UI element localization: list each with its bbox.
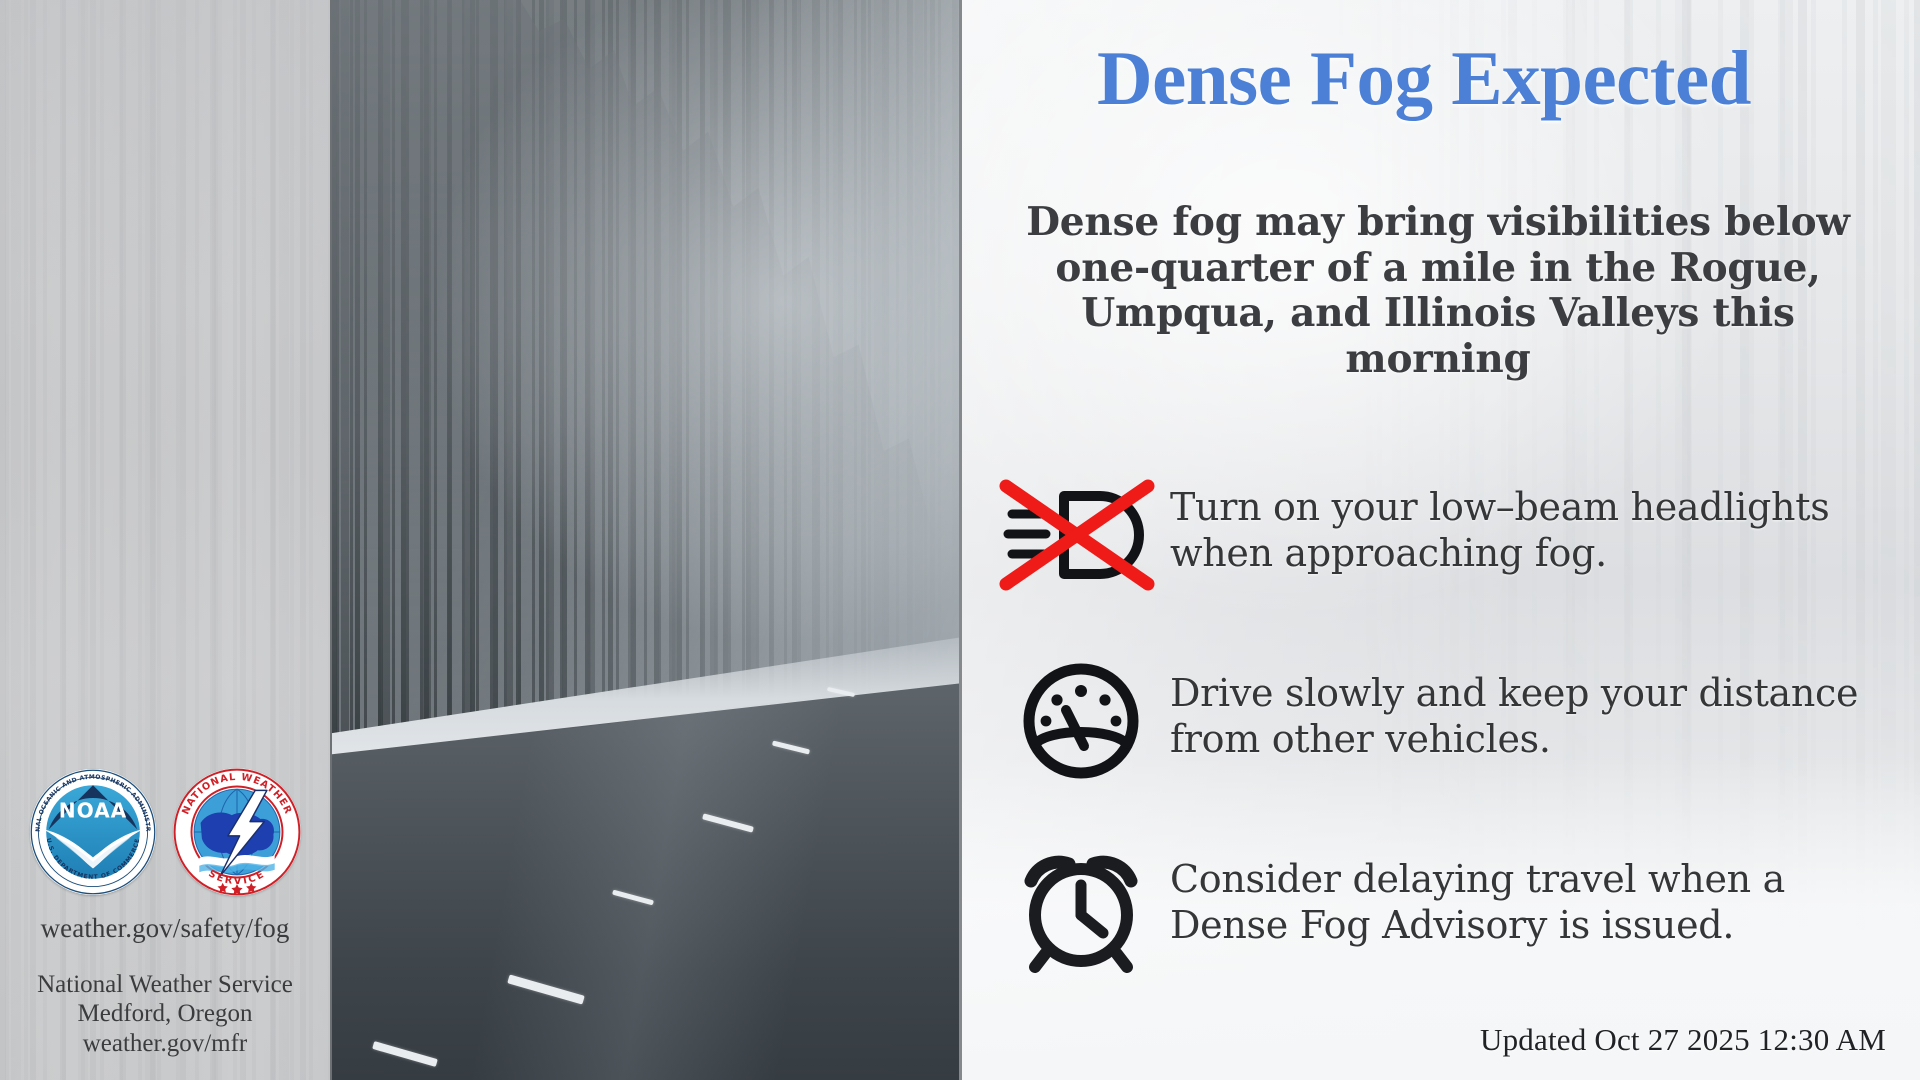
no-headlights-icon <box>992 470 1170 600</box>
safety-tip-item: Turn on your low–beam headlights when ap… <box>992 470 1892 600</box>
message-panel: Dense Fog Expected Dense fog may bring v… <box>962 0 1920 1080</box>
alarm-clock-icon <box>992 842 1170 972</box>
sidebar-top-shade <box>0 0 330 300</box>
headline-subtitle: Dense fog may bring visibilities below o… <box>982 200 1894 383</box>
speedometer-icon <box>992 656 1170 786</box>
svg-text:NOAA: NOAA <box>59 798 128 822</box>
page-title: Dense Fog Expected <box>962 38 1886 119</box>
office-location: Medford, Oregon <box>37 999 293 1029</box>
nws-office-block: National Weather Service Medford, Oregon… <box>37 970 293 1059</box>
infographic-root: NOAA NATIONAL OCEANIC AND ATMOSPHERIC AD… <box>0 0 1920 1080</box>
safety-tip-text: Turn on your low–beam headlights when ap… <box>1170 470 1892 577</box>
national-weather-service-logo-icon: NATIONAL WEATHER SERVICE <box>172 767 302 897</box>
safety-tips-list: Turn on your low–beam headlights when ap… <box>992 470 1892 1028</box>
safety-tip-item: Consider delaying travel when a Dense Fo… <box>992 842 1892 972</box>
fog-road-photo <box>330 0 962 1080</box>
office-name: National Weather Service <box>37 970 293 1000</box>
safety-tip-text: Consider delaying travel when a Dense Fo… <box>1170 842 1892 949</box>
safety-tip-item: Drive slowly and keep your distance from… <box>992 656 1892 786</box>
agency-logos: NOAA NATIONAL OCEANIC AND ATMOSPHERIC AD… <box>28 767 302 897</box>
fog-safety-url[interactable]: weather.gov/safety/fog <box>41 913 290 944</box>
noaa-logo-icon: NOAA NATIONAL OCEANIC AND ATMOSPHERIC AD… <box>28 767 158 897</box>
branding-sidebar: NOAA NATIONAL OCEANIC AND ATMOSPHERIC AD… <box>0 0 330 1080</box>
office-url[interactable]: weather.gov/mfr <box>37 1029 293 1059</box>
safety-tip-text: Drive slowly and keep your distance from… <box>1170 656 1892 763</box>
updated-timestamp: Updated Oct 27 2025 12:30 AM <box>1480 1022 1886 1058</box>
